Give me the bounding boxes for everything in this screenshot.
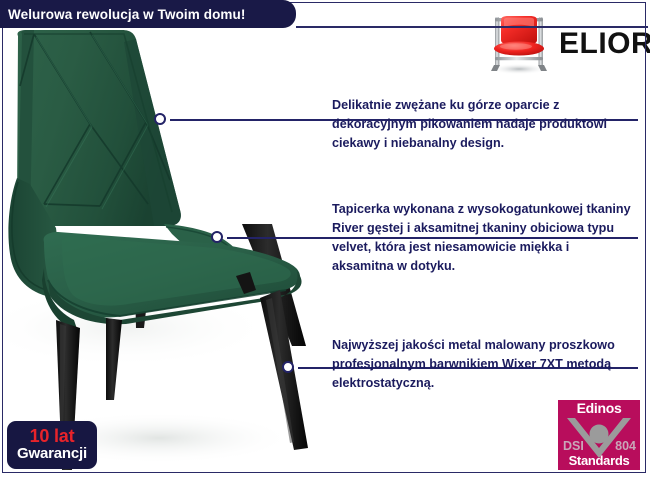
callout-dot-metal-frame[interactable] xyxy=(282,361,294,373)
product-photo xyxy=(4,28,324,473)
callout-text-backrest: Delikatnie zwężane ku górze oparcie z de… xyxy=(332,96,644,153)
chair-illustration xyxy=(4,28,324,473)
brand-logo: ELIOR xyxy=(482,12,642,76)
infographic-canvas: Delikatnie zwężane ku górze oparcie z de… xyxy=(0,0,650,477)
certification-code-right: 804 xyxy=(615,440,636,453)
certification-label: Standards xyxy=(558,454,640,468)
red-chair-icon xyxy=(482,13,556,75)
callout-text-upholstery: Tapicerka wykonana z wysokogatunkowej tk… xyxy=(332,200,632,276)
warranty-years: 10 lat xyxy=(30,427,75,445)
callout-dot-upholstery[interactable] xyxy=(211,231,223,243)
certification-code-left: DSI xyxy=(563,440,584,453)
title-banner: Welurowa rewolucja w Twoim domu! xyxy=(0,0,296,28)
callout-dot-backrest[interactable] xyxy=(154,113,166,125)
warranty-badge: 10 lat Gwarancji xyxy=(7,421,97,469)
brand-wordmark: ELIOR xyxy=(559,29,650,59)
warranty-label: Gwarancji xyxy=(17,445,87,462)
callout-text-metal-frame: Najwyższej jakości metal malowany proszk… xyxy=(332,336,642,393)
certification-name: Edinos xyxy=(558,401,640,416)
certification-badge: Edinos DSI 804 Standards xyxy=(558,400,640,470)
banner-rule xyxy=(296,26,648,28)
page-title: Welurowa rewolucja w Twoim domu! xyxy=(0,7,245,22)
